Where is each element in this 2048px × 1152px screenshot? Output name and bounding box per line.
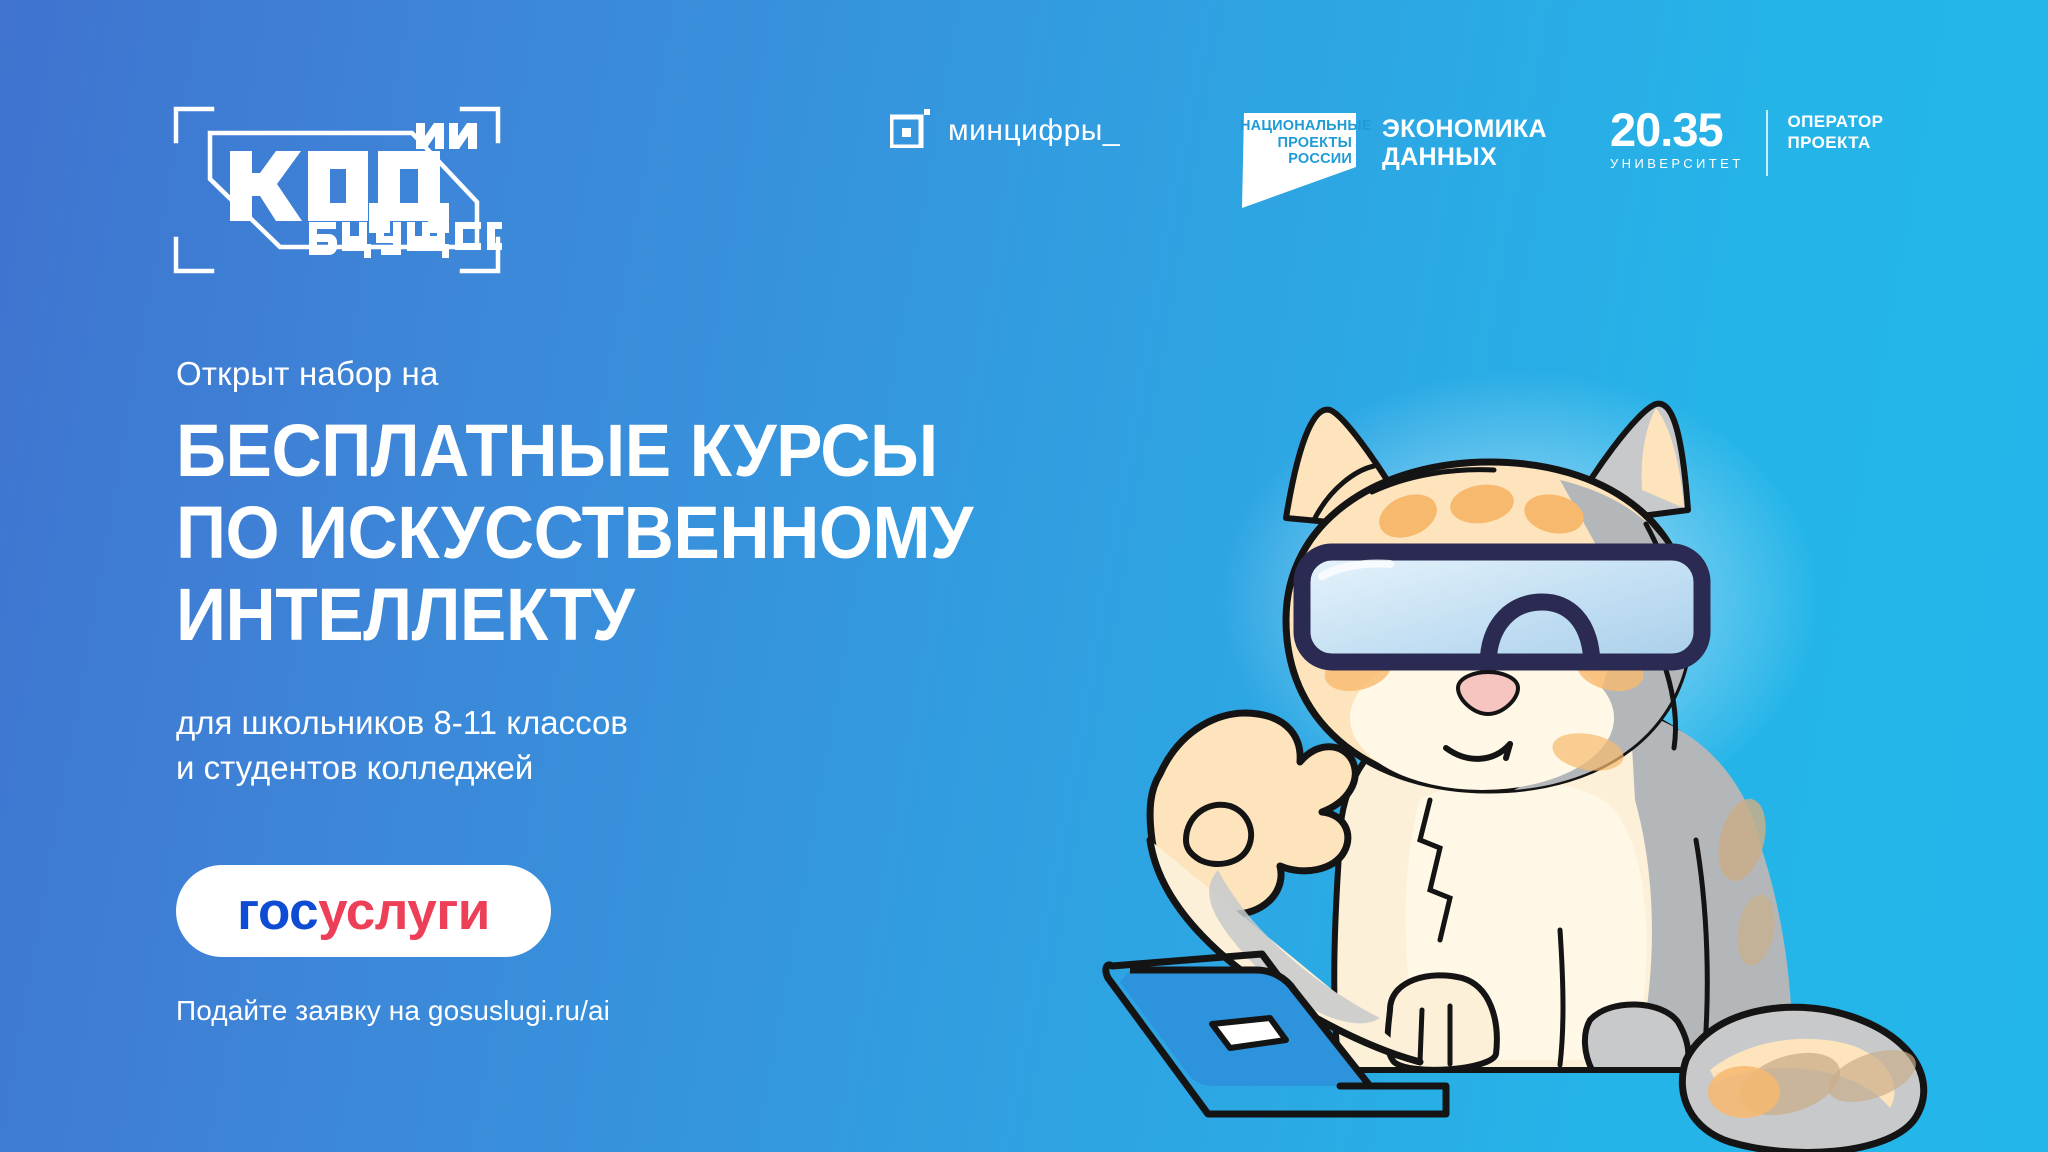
page-title: БЕСПЛАТНЫЕ КУРСЫ ПО ИСКУССТВЕННОМУ ИНТЕЛ… bbox=[176, 410, 973, 656]
headline-line-2: ПО ИСКУССТВЕННОМУ bbox=[176, 492, 973, 574]
promo-banner: минцифры_ НАЦИОНАЛЬНЫЕ ПРОЕКТЫ РОССИИ ЭК… bbox=[0, 0, 2048, 1152]
subtitle-line-1: для школьников 8-11 классов bbox=[176, 700, 628, 745]
national-projects-flag: НАЦИОНАЛЬНЫЕ ПРОЕКТЫ РОССИИ bbox=[1240, 105, 1362, 210]
data-economy-label: ЭКОНОМИКА ДАННЫХ bbox=[1382, 105, 1547, 171]
divider bbox=[1766, 110, 1768, 176]
cat-head bbox=[1286, 404, 1702, 790]
mincifry-logo: минцифры_ bbox=[890, 108, 1120, 153]
project-operator-label: ОПЕРАТОР ПРОЕКТА bbox=[1788, 108, 1884, 153]
logo-word-kod bbox=[230, 151, 449, 233]
headline-line-3: ИНТЕЛЛЕКТУ bbox=[176, 574, 973, 656]
headline-line-1: БЕСПЛАТНЫЕ КУРСЫ bbox=[176, 410, 973, 492]
cat-with-vr-goggles-and-laptop bbox=[1090, 370, 2010, 1152]
cat-tail bbox=[1682, 1007, 1923, 1152]
gosuslugi-button[interactable]: госуслуги bbox=[176, 865, 551, 957]
university-subtitle: УНИВЕРСИТЕТ bbox=[1610, 156, 1744, 171]
national-projects-block: НАЦИОНАЛЬНЫЕ ПРОЕКТЫ РОССИИ ЭКОНОМИКА ДА… bbox=[1240, 105, 1547, 210]
logo-word-budushchego bbox=[309, 222, 502, 258]
gosuslugi-suffix: услуги bbox=[318, 882, 490, 941]
audience-subtitle: для школьников 8-11 классов и студентов … bbox=[176, 700, 628, 790]
gosuslugi-prefix: гос bbox=[237, 882, 318, 941]
vr-goggles bbox=[1302, 552, 1702, 666]
national-projects-text: НАЦИОНАЛЬНЫЕ ПРОЕКТЫ РОССИИ bbox=[1240, 118, 1352, 168]
university-2035-logo: 20.35 УНИВЕРСИТЕТ ОПЕРАТОР ПРОЕКТА bbox=[1610, 108, 1883, 176]
cta-note: Подайте заявку на gosuslugi.ru/ai bbox=[176, 995, 610, 1027]
bracket-top-left bbox=[176, 109, 212, 141]
gosuslugi-wordmark: госуслуги bbox=[237, 881, 490, 942]
mincifry-label: минцифры_ bbox=[948, 114, 1120, 148]
university-number: 20.35 bbox=[1610, 108, 1744, 152]
eyebrow-text: Открыт набор на bbox=[176, 355, 439, 393]
logo-word-ii bbox=[416, 123, 477, 149]
bracket-bottom-left bbox=[176, 239, 212, 271]
square-dot-icon bbox=[890, 108, 930, 153]
subtitle-line-2: и студентов колледжей bbox=[176, 745, 628, 790]
kod-budushchego-logo bbox=[172, 105, 502, 275]
